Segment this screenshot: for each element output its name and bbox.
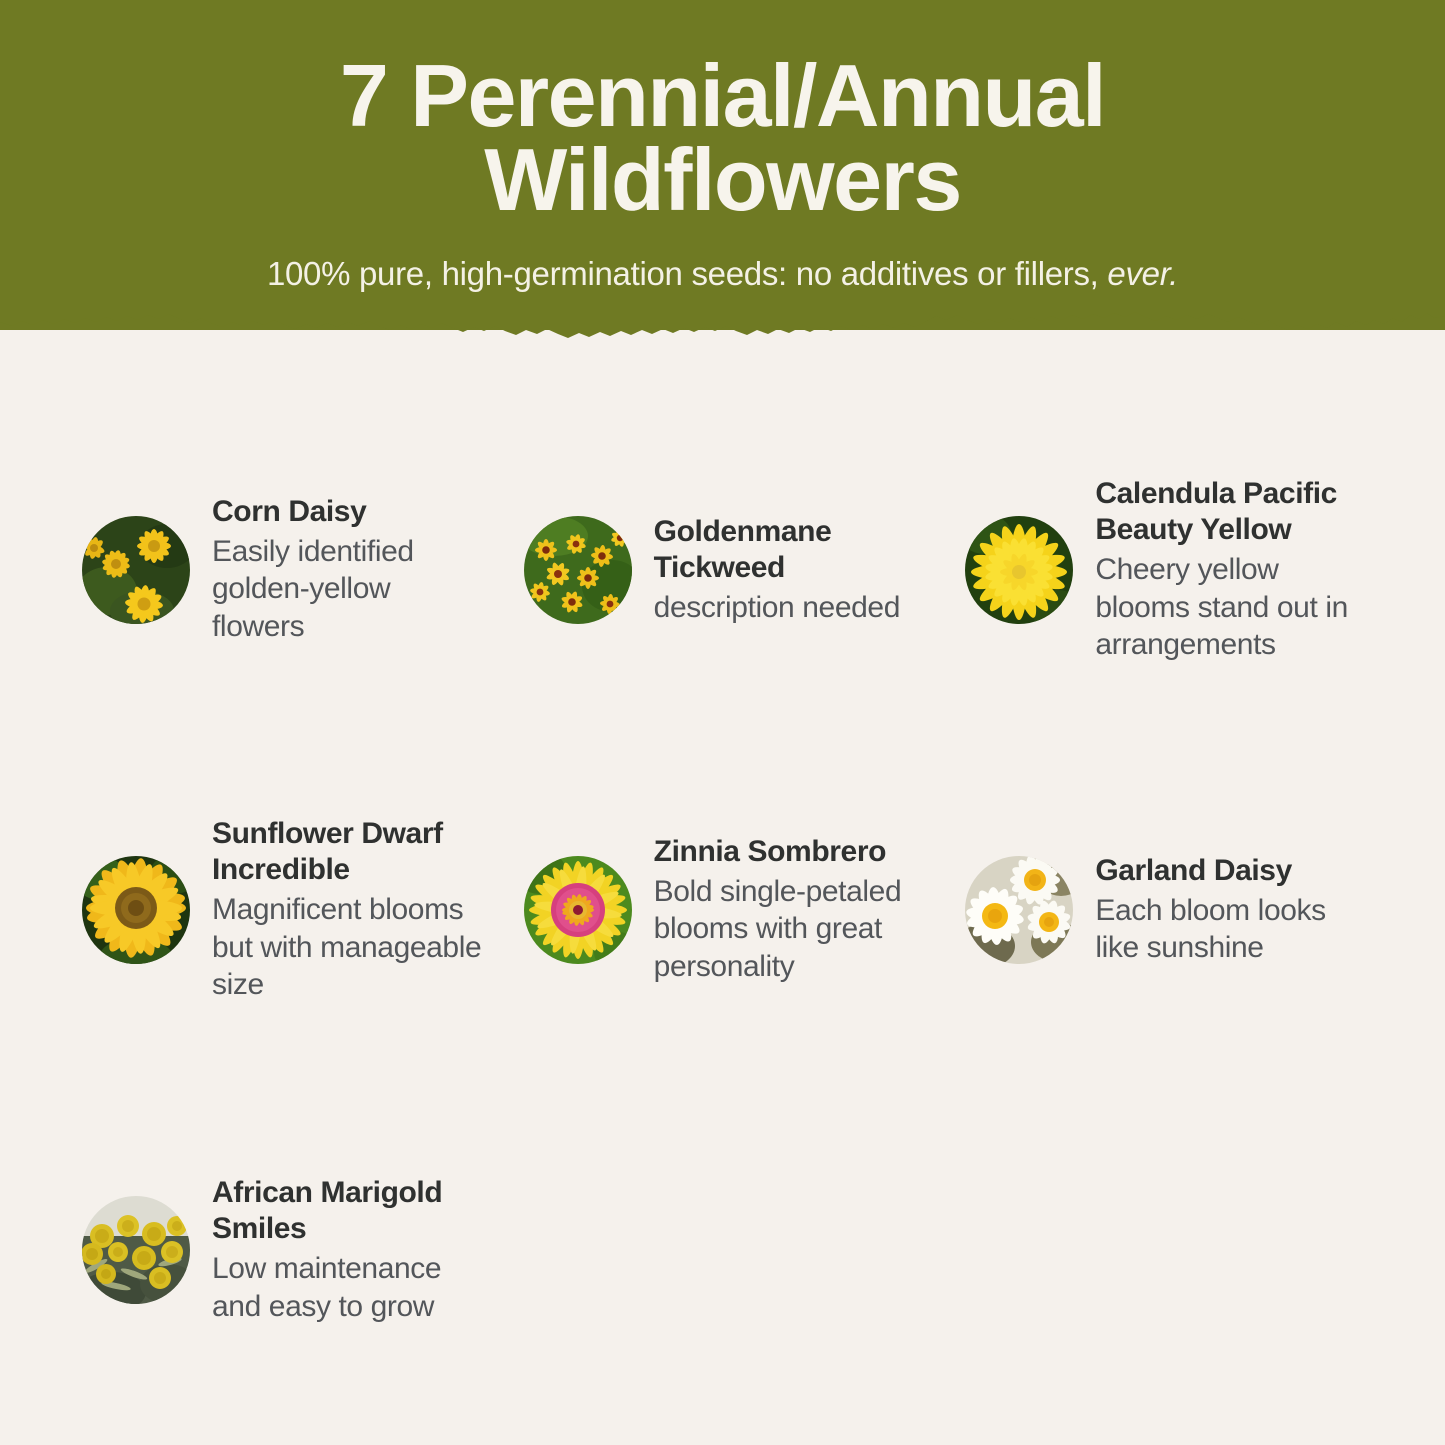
corn-daisy-thumbnail (82, 516, 190, 624)
african-marigold-smiles-thumbnail (82, 1196, 190, 1304)
flower-grid: Corn Daisy Easily identified golden-yell… (0, 400, 1445, 1420)
flower-card: African Marigold Smiles Low maintenance … (60, 1080, 502, 1420)
flower-name: Corn Daisy (212, 494, 484, 531)
flower-description: description needed (654, 589, 926, 627)
flower-description: Bold single-petaled blooms with great pe… (654, 873, 926, 986)
page-title: 7 Perennial/Annual Wildflowers (163, 54, 1283, 221)
goldenmane-tickweed-thumbnail (524, 516, 632, 624)
flower-card: Goldenmane Tickweed description needed (502, 400, 944, 740)
page-subtitle: 100% pure, high-germination seeds: no ad… (0, 255, 1445, 293)
flower-name: African Marigold Smiles (212, 1175, 484, 1248)
header-banner: 7 Perennial/Annual Wildflowers 100% pure… (0, 0, 1445, 330)
flower-name: Calendula Pacific Beauty Yellow (1095, 476, 1367, 549)
flower-info: Garland Daisy Each bloom looks like suns… (1095, 853, 1367, 967)
flower-name: Sunflower Dwarf Incredible (212, 816, 484, 889)
flower-description: Easily identified golden-yellow flowers (212, 533, 484, 646)
flower-description: Magnificent blooms but with manageable s… (212, 891, 484, 1004)
flower-card: Corn Daisy Easily identified golden-yell… (60, 400, 502, 740)
flower-name: Goldenmane Tickweed (654, 514, 926, 587)
flower-name: Garland Daisy (1095, 853, 1367, 890)
flower-info: African Marigold Smiles Low maintenance … (212, 1175, 484, 1326)
subtitle-text: 100% pure, high-germination seeds: no ad… (267, 255, 1107, 292)
flower-card: Garland Daisy Each bloom looks like suns… (943, 740, 1385, 1080)
flower-info: Calendula Pacific Beauty Yellow Cheery y… (1095, 476, 1367, 665)
flower-card: Zinnia Sombrero Bold single-petaled bloo… (502, 740, 944, 1080)
zinnia-sombrero-thumbnail (524, 856, 632, 964)
flower-info: Goldenmane Tickweed description needed (654, 514, 926, 627)
flower-info: Corn Daisy Easily identified golden-yell… (212, 494, 484, 646)
calendula-pacific-beauty-yellow-thumbnail (965, 516, 1073, 624)
flower-description: Low maintenance and easy to grow (212, 1250, 484, 1326)
flower-description: Each bloom looks like sunshine (1095, 892, 1367, 968)
sunflower-dwarf-incredible-thumbnail (82, 856, 190, 964)
garland-daisy-thumbnail (965, 856, 1073, 964)
flower-card: Calendula Pacific Beauty Yellow Cheery y… (943, 400, 1385, 740)
flower-info: Zinnia Sombrero Bold single-petaled bloo… (654, 834, 926, 986)
flower-card: Sunflower Dwarf Incredible Magnificent b… (60, 740, 502, 1080)
subtitle-emphasis: ever. (1107, 255, 1178, 292)
flower-description: Cheery yellow blooms stand out in arrang… (1095, 551, 1367, 664)
flower-info: Sunflower Dwarf Incredible Magnificent b… (212, 816, 484, 1005)
torn-paper-divider (0, 296, 1445, 342)
flower-name: Zinnia Sombrero (654, 834, 926, 871)
